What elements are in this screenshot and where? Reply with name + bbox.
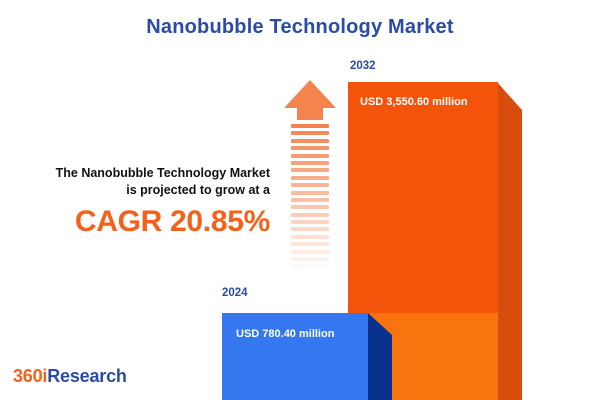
arrow-segment bbox=[291, 131, 329, 135]
bar-2024[interactable] bbox=[222, 313, 368, 400]
arrow-segment bbox=[291, 235, 329, 239]
arrow-segment bbox=[291, 257, 329, 261]
arrow-neck-icon bbox=[297, 108, 323, 120]
statement-line-2: is projected to grow at a bbox=[8, 182, 270, 199]
growth-arrow-icon bbox=[284, 80, 336, 292]
arrow-segment bbox=[291, 154, 329, 158]
arrow-segment bbox=[291, 242, 329, 246]
cagr-statement: The Nanobubble Technology Market is proj… bbox=[8, 165, 270, 239]
arrow-segment bbox=[291, 139, 329, 143]
statement-line-1: The Nanobubble Technology Market bbox=[8, 165, 270, 182]
bar-year-label-2024: 2024 bbox=[222, 287, 248, 299]
arrow-head-icon bbox=[284, 80, 336, 108]
cagr-value: CAGR 20.85% bbox=[8, 205, 270, 239]
brand-logo-word: Research bbox=[47, 366, 126, 386]
arrow-segment bbox=[291, 213, 329, 217]
brand-logo[interactable]: 360iResearch bbox=[13, 366, 127, 387]
arrow-segment bbox=[291, 146, 329, 150]
infographic-canvas: Nanobubble Technology Market The Nanobub… bbox=[0, 0, 600, 400]
arrow-segment bbox=[291, 227, 329, 231]
arrow-segment bbox=[291, 176, 329, 180]
arrow-segment bbox=[291, 191, 329, 195]
arrow-segment bbox=[291, 205, 329, 209]
arrow-segment bbox=[291, 124, 329, 128]
arrow-segment bbox=[291, 264, 329, 268]
bar-side-face-2032 bbox=[497, 82, 522, 400]
arrow-segment bbox=[291, 220, 329, 224]
brand-logo-mark: 360i bbox=[13, 366, 47, 386]
arrow-segment bbox=[291, 272, 329, 276]
page-title: Nanobubble Technology Market bbox=[0, 16, 600, 39]
bar-year-label-2032: 2032 bbox=[350, 60, 376, 72]
bar-value-label-2024: USD 780.40 million bbox=[236, 328, 376, 340]
bar-2032[interactable] bbox=[348, 82, 498, 313]
arrow-segment bbox=[291, 183, 329, 187]
arrow-segment bbox=[291, 250, 329, 254]
bar-value-label-2032: USD 3,550.60 million bbox=[360, 96, 500, 108]
arrow-segment bbox=[291, 168, 329, 172]
arrow-segment bbox=[291, 161, 329, 165]
arrow-segment bbox=[291, 198, 329, 202]
arrow-shaft-icon bbox=[291, 124, 329, 290]
arrow-segment bbox=[291, 279, 329, 283]
